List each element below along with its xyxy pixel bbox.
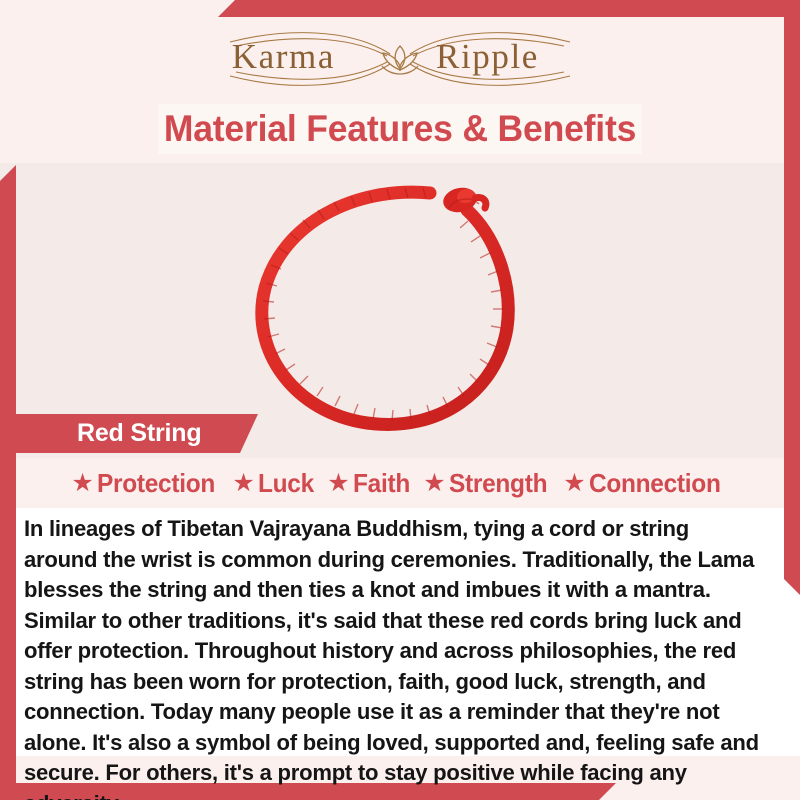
benefits-row: ★ Protection ★ Luck ★ Faith ★ Strength ★… (16, 458, 784, 508)
page-title-band: Material Features & Benefits (158, 104, 642, 154)
description-text: In lineages of Tibetan Vajrayana Buddhis… (24, 514, 765, 800)
benefit-label: Faith (353, 468, 410, 499)
benefit-item-connection: ★ Connection (558, 468, 733, 499)
benefit-item-protection: ★ Protection (66, 468, 227, 499)
brand-logo-svg: Karma Ripple (190, 26, 610, 92)
star-icon: ★ (71, 471, 93, 496)
star-icon: ★ (563, 471, 585, 496)
benefit-label: Protection (97, 468, 215, 499)
frame-accent-top (218, 0, 800, 17)
benefit-item-strength: ★ Strength (418, 468, 558, 499)
product-image (0, 163, 800, 458)
star-icon: ★ (327, 471, 349, 496)
benefit-label: Connection (589, 468, 721, 499)
benefit-item-luck: ★ Luck (227, 468, 322, 499)
benefit-item-faith: ★ Faith (322, 468, 418, 499)
benefit-label: Strength (449, 468, 547, 499)
brand-logo: Karma Ripple (0, 26, 800, 92)
infographic-page: Karma Ripple Material Features & Benefit… (0, 0, 800, 800)
page-title: Material Features & Benefits (164, 108, 636, 150)
brand-name-left: Karma (232, 37, 335, 76)
brand-name-right: Ripple (436, 37, 539, 76)
bracelet-cord (262, 192, 508, 424)
star-icon: ★ (232, 471, 254, 496)
star-icon: ★ (423, 471, 445, 496)
description-block: In lineages of Tibetan Vajrayana Buddhis… (24, 508, 776, 756)
red-string-bracelet-illustration (235, 168, 565, 453)
material-ribbon-label: Red String (77, 419, 201, 448)
material-ribbon: Red String (15, 414, 258, 453)
benefit-label: Luck (258, 468, 314, 499)
lotus-icon (382, 46, 418, 74)
bracelet-knot (441, 185, 486, 216)
